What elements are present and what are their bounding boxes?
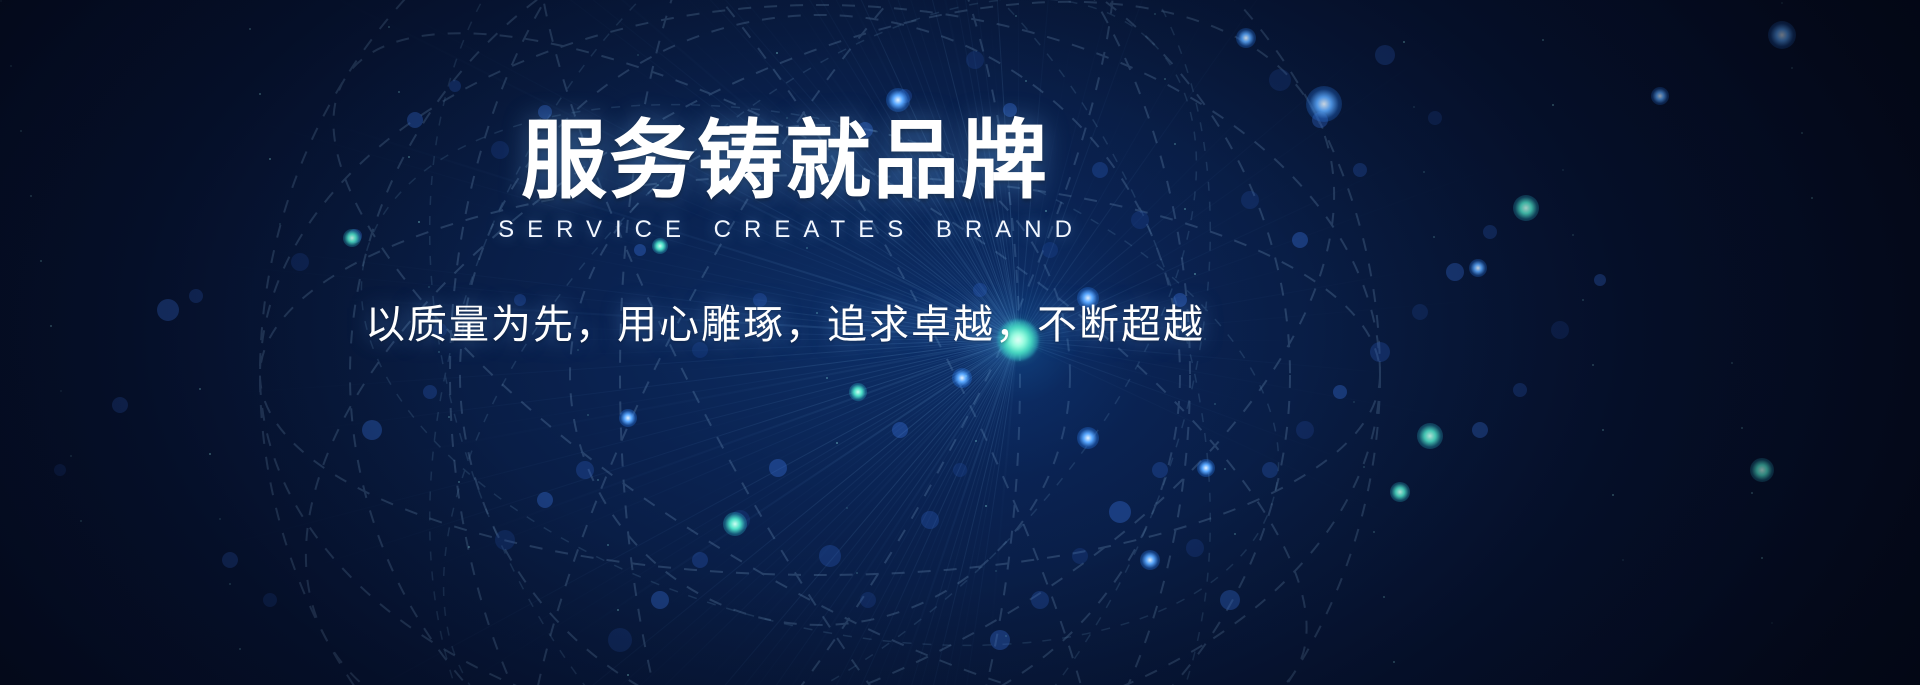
page-subtitle: SERVICE CREATES BRAND <box>0 218 1570 242</box>
page-tagline: 以质量为先，用心雕琢，追求卓越，不断超越 <box>0 300 1570 350</box>
page-title: 服务铸就品牌 <box>0 118 1570 204</box>
hero-text-block: 服务铸就品牌 SERVICE CREATES BRAND 以质量为先，用心雕琢，… <box>0 0 1920 685</box>
hero-banner: 服务铸就品牌 SERVICE CREATES BRAND 以质量为先，用心雕琢，… <box>0 0 1920 685</box>
